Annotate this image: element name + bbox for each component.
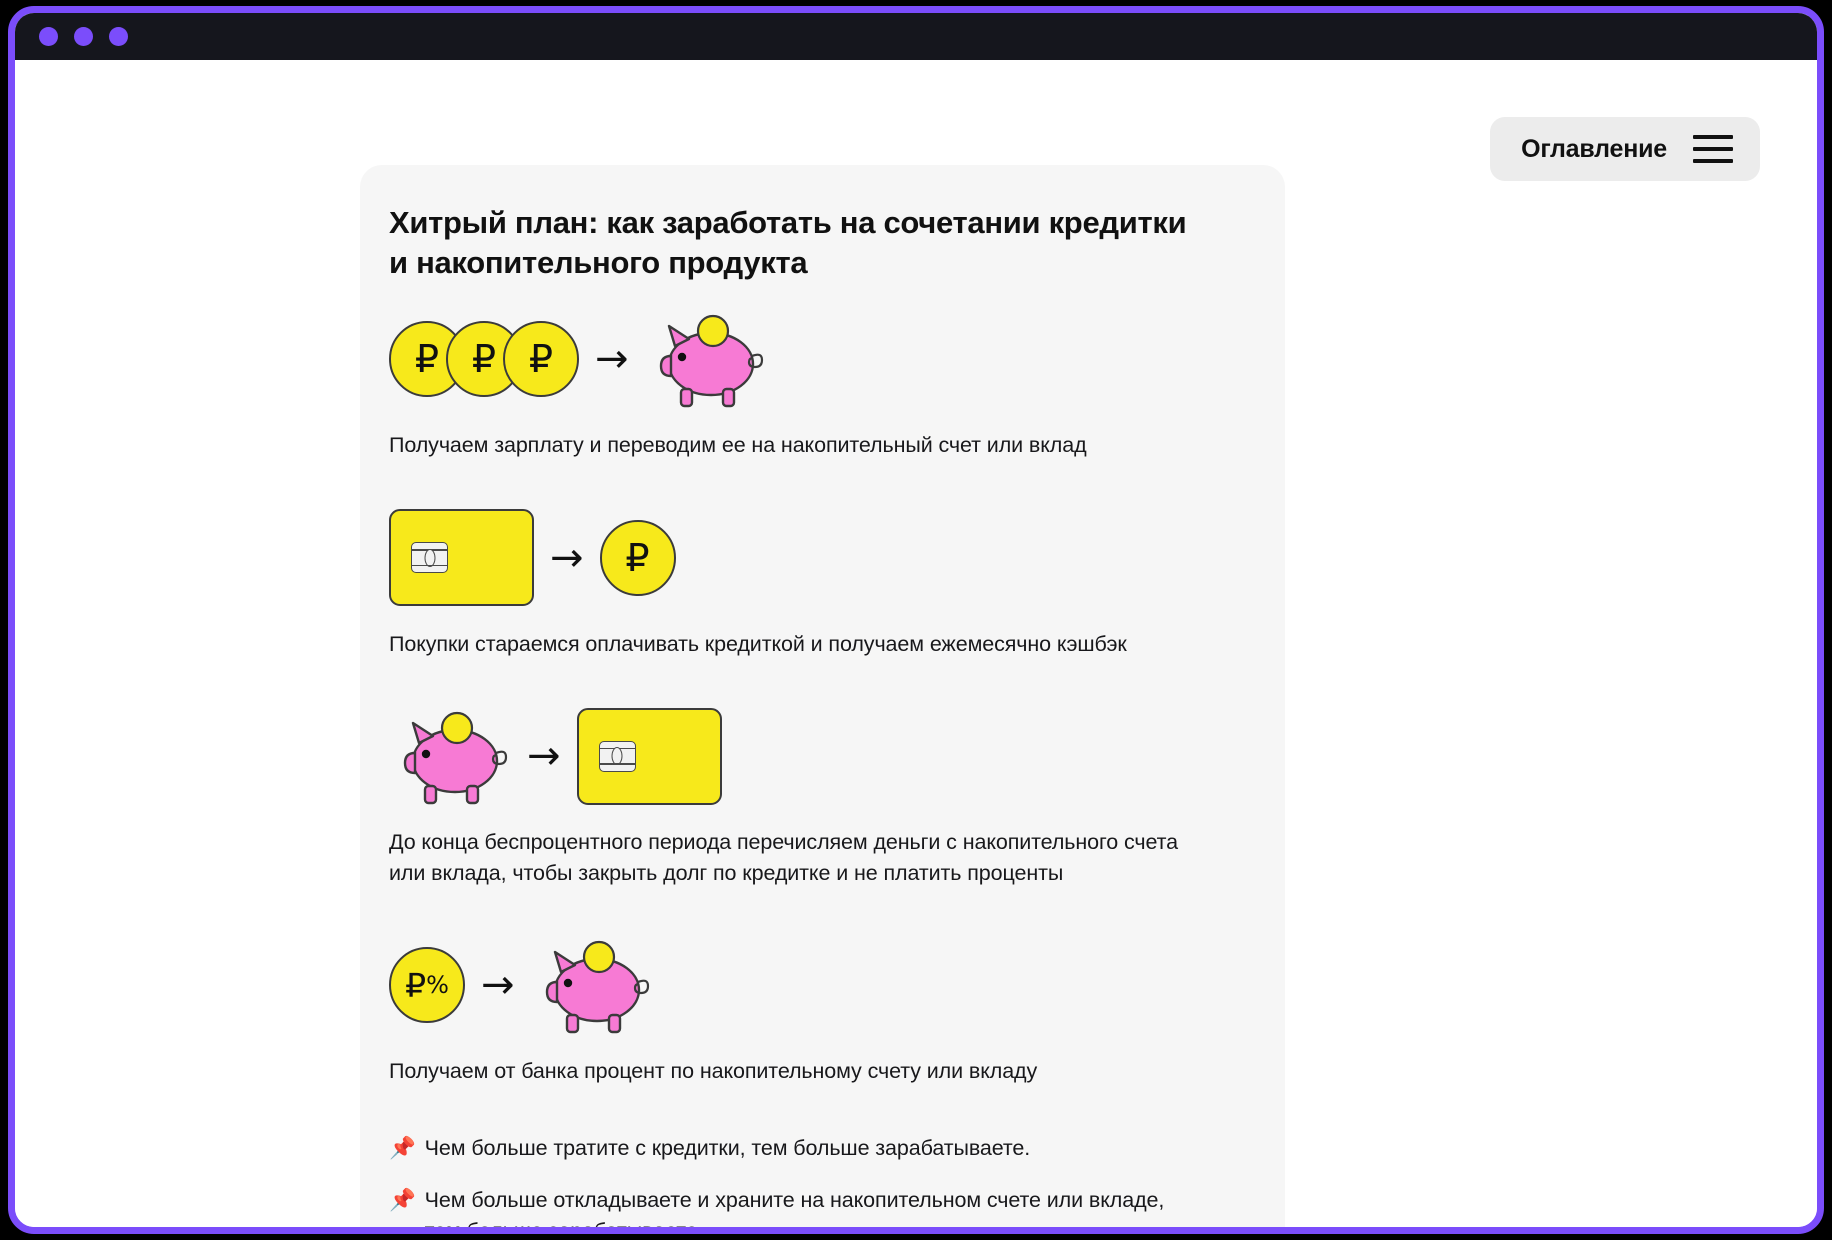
step-savings-to-card: → До конца беспроцентного периода перечи…	[389, 697, 1243, 888]
page-title: Хитрый план: как заработать на сочетании…	[389, 203, 1209, 282]
card-chip-icon	[411, 542, 448, 573]
step-3-caption: До конца беспроцентного периода перечисл…	[389, 827, 1189, 888]
step-3-figure: →	[389, 697, 1243, 815]
traffic-light-close-icon[interactable]	[39, 27, 58, 46]
traffic-light-maximize-icon[interactable]	[109, 27, 128, 46]
pushpin-icon: 📌	[389, 1185, 416, 1216]
step-4-figure: ₽% →	[389, 926, 1243, 1044]
step-card-to-cashback: → ₽ Покупки стараемся оплачивать кредитк…	[389, 499, 1243, 660]
pushpin-icon: 📌	[389, 1133, 416, 1164]
notes-list: 📌 Чем больше тратите с кредитки, тем бол…	[389, 1133, 1243, 1234]
step-interest-to-savings: ₽% → Получаем от банка процент по накопи…	[389, 926, 1243, 1087]
rouble-coin-icon: ₽	[600, 520, 676, 596]
card-chip-icon	[599, 741, 636, 772]
note-item: 📌 Чем больше откладываете и храните на н…	[389, 1185, 1194, 1234]
table-of-contents-label: Оглавление	[1521, 135, 1667, 164]
credit-card-icon	[577, 708, 722, 805]
step-4-caption: Получаем от банка процент по накопительн…	[389, 1056, 1189, 1087]
note-text: Чем больше тратите с кредитки, тем больш…	[425, 1133, 1030, 1164]
traffic-light-minimize-icon[interactable]	[74, 27, 93, 46]
note-item: 📌 Чем больше тратите с кредитки, тем бол…	[389, 1133, 1194, 1164]
step-1-figure: ₽ ₽ ₽ →	[389, 300, 1243, 418]
arrow-right-icon: →	[527, 736, 561, 776]
arrow-right-icon: →	[595, 339, 629, 379]
note-text: Чем больше откладываете и храните на нак…	[425, 1185, 1194, 1234]
credit-card-icon	[389, 509, 534, 606]
spacer	[389, 461, 1243, 495]
article-card: Хитрый план: как заработать на сочетании…	[360, 165, 1285, 1234]
step-salary-to-savings: ₽ ₽ ₽ → Полу	[389, 300, 1243, 461]
three-rouble-coins-icon: ₽ ₽ ₽	[389, 321, 579, 397]
table-of-contents-button[interactable]: Оглавление	[1490, 117, 1760, 181]
arrow-right-icon: →	[481, 965, 515, 1005]
step-2-figure: → ₽	[389, 499, 1243, 617]
piggy-bank-icon	[645, 309, 767, 409]
browser-window: Оглавление Хитрый план: как заработать н…	[8, 6, 1824, 1234]
piggy-bank-icon	[531, 935, 653, 1035]
step-1-caption: Получаем зарплату и переводим ее на нако…	[389, 430, 1189, 461]
rouble-coin-icon: ₽	[503, 321, 579, 397]
hamburger-menu-icon	[1693, 135, 1733, 163]
arrow-right-icon: →	[550, 538, 584, 578]
step-2-caption: Покупки стараемся оплачивать кредиткой и…	[389, 629, 1189, 660]
spacer	[389, 888, 1243, 922]
window-titlebar	[15, 13, 1817, 60]
page-surface: Оглавление Хитрый план: как заработать н…	[15, 60, 1817, 1227]
rouble-percent-coin-icon: ₽%	[389, 947, 465, 1023]
spacer	[389, 659, 1243, 693]
piggy-bank-icon	[389, 706, 511, 806]
